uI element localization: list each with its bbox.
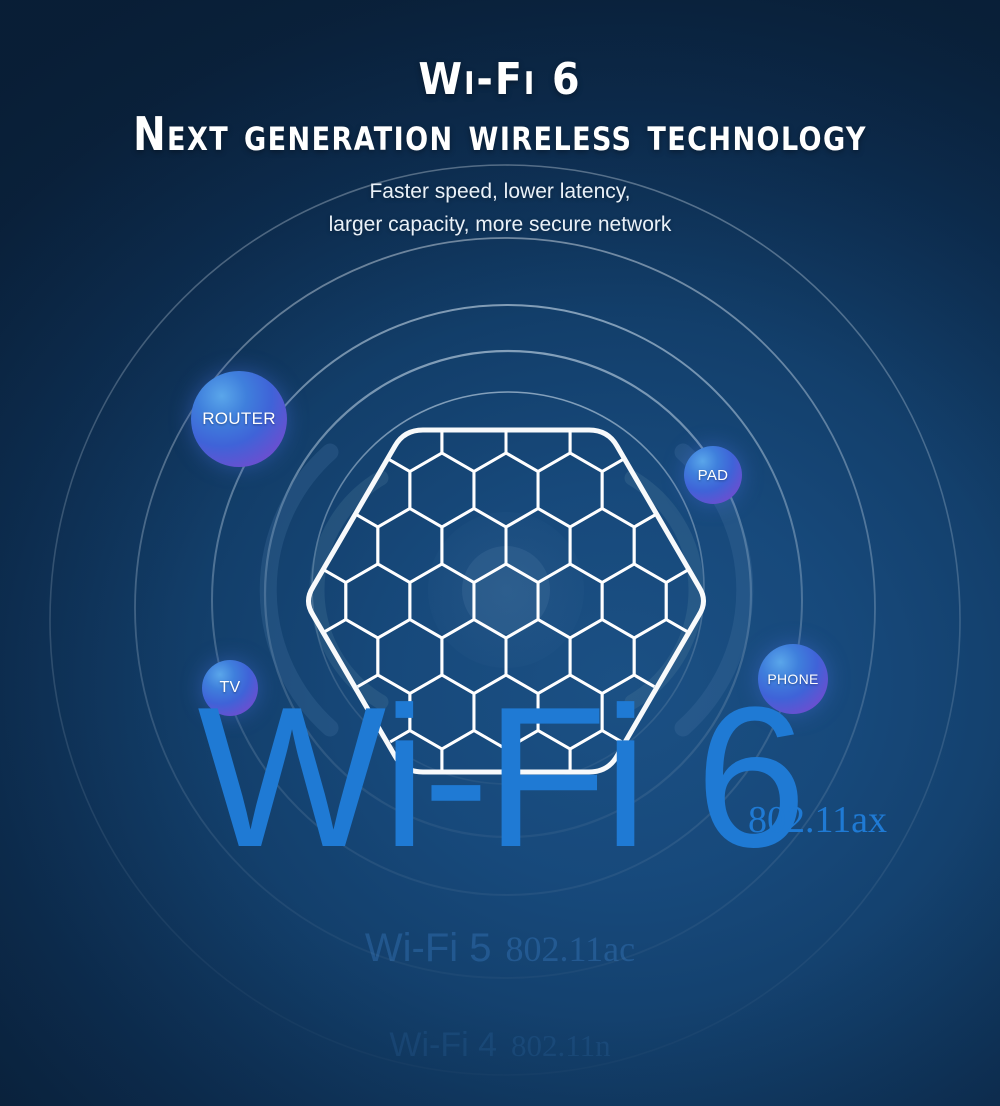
honeycomb-cell bbox=[410, 453, 474, 527]
device-node-pad-label: PAD bbox=[698, 467, 729, 484]
honeycomb-cell bbox=[378, 509, 442, 583]
legacy-wifi5-name: Wi-Fi 5 bbox=[365, 926, 492, 970]
honeycomb-cell bbox=[666, 564, 730, 638]
honeycomb-cell bbox=[282, 564, 346, 638]
honeycomb-cell bbox=[250, 509, 314, 583]
honeycomb-cell bbox=[602, 564, 666, 638]
page-title: Wi-Fi 6 bbox=[0, 58, 1000, 102]
device-node-router[interactable]: ROUTER bbox=[191, 371, 287, 467]
legacy-wifi4-name: Wi-Fi 4 bbox=[389, 1026, 497, 1064]
honeycomb-cell bbox=[474, 453, 538, 527]
poster-canvas: Wi-Fi 6 Next generation wireless technol… bbox=[0, 0, 1000, 1106]
tagline-line-1: Faster speed, lower latency, bbox=[0, 176, 1000, 209]
honeycomb-cell bbox=[314, 398, 378, 472]
device-node-router-label: ROUTER bbox=[202, 409, 276, 429]
header-block: Wi-Fi 6 Next generation wireless technol… bbox=[0, 0, 1000, 241]
honeycomb-cell bbox=[570, 509, 634, 583]
tagline-line-2: larger capacity, more secure network bbox=[0, 209, 1000, 242]
legacy-wifi4: Wi-Fi 4802.11n bbox=[0, 1026, 1000, 1065]
honeycomb-cell bbox=[538, 453, 602, 527]
legacy-wifi5: Wi-Fi 5802.11ac bbox=[0, 926, 1000, 971]
honeycomb-cell bbox=[442, 398, 506, 472]
page-subtitle-heading: Next generation wireless technology bbox=[30, 110, 970, 158]
device-node-pad[interactable]: PAD bbox=[684, 446, 742, 504]
honeycomb-cell bbox=[442, 509, 506, 583]
honeycomb-cell bbox=[538, 564, 602, 638]
honeycomb-cell bbox=[474, 564, 538, 638]
legacy-wifi4-standard: 802.11n bbox=[511, 1028, 611, 1063]
honeycomb-cell bbox=[698, 509, 762, 583]
tagline: Faster speed, lower latency, larger capa… bbox=[0, 176, 1000, 241]
wifi6-wordmark: Wi-Fi 6 bbox=[0, 678, 1000, 878]
honeycomb-cell bbox=[346, 564, 410, 638]
honeycomb-cell bbox=[410, 564, 474, 638]
honeycomb-cell bbox=[282, 453, 346, 527]
honeycomb-cell bbox=[506, 398, 570, 472]
wifi6-standard-label: 802.11ax bbox=[748, 801, 887, 839]
legacy-wifi5-standard: 802.11ac bbox=[506, 929, 636, 969]
honeycomb-cell bbox=[506, 509, 570, 583]
